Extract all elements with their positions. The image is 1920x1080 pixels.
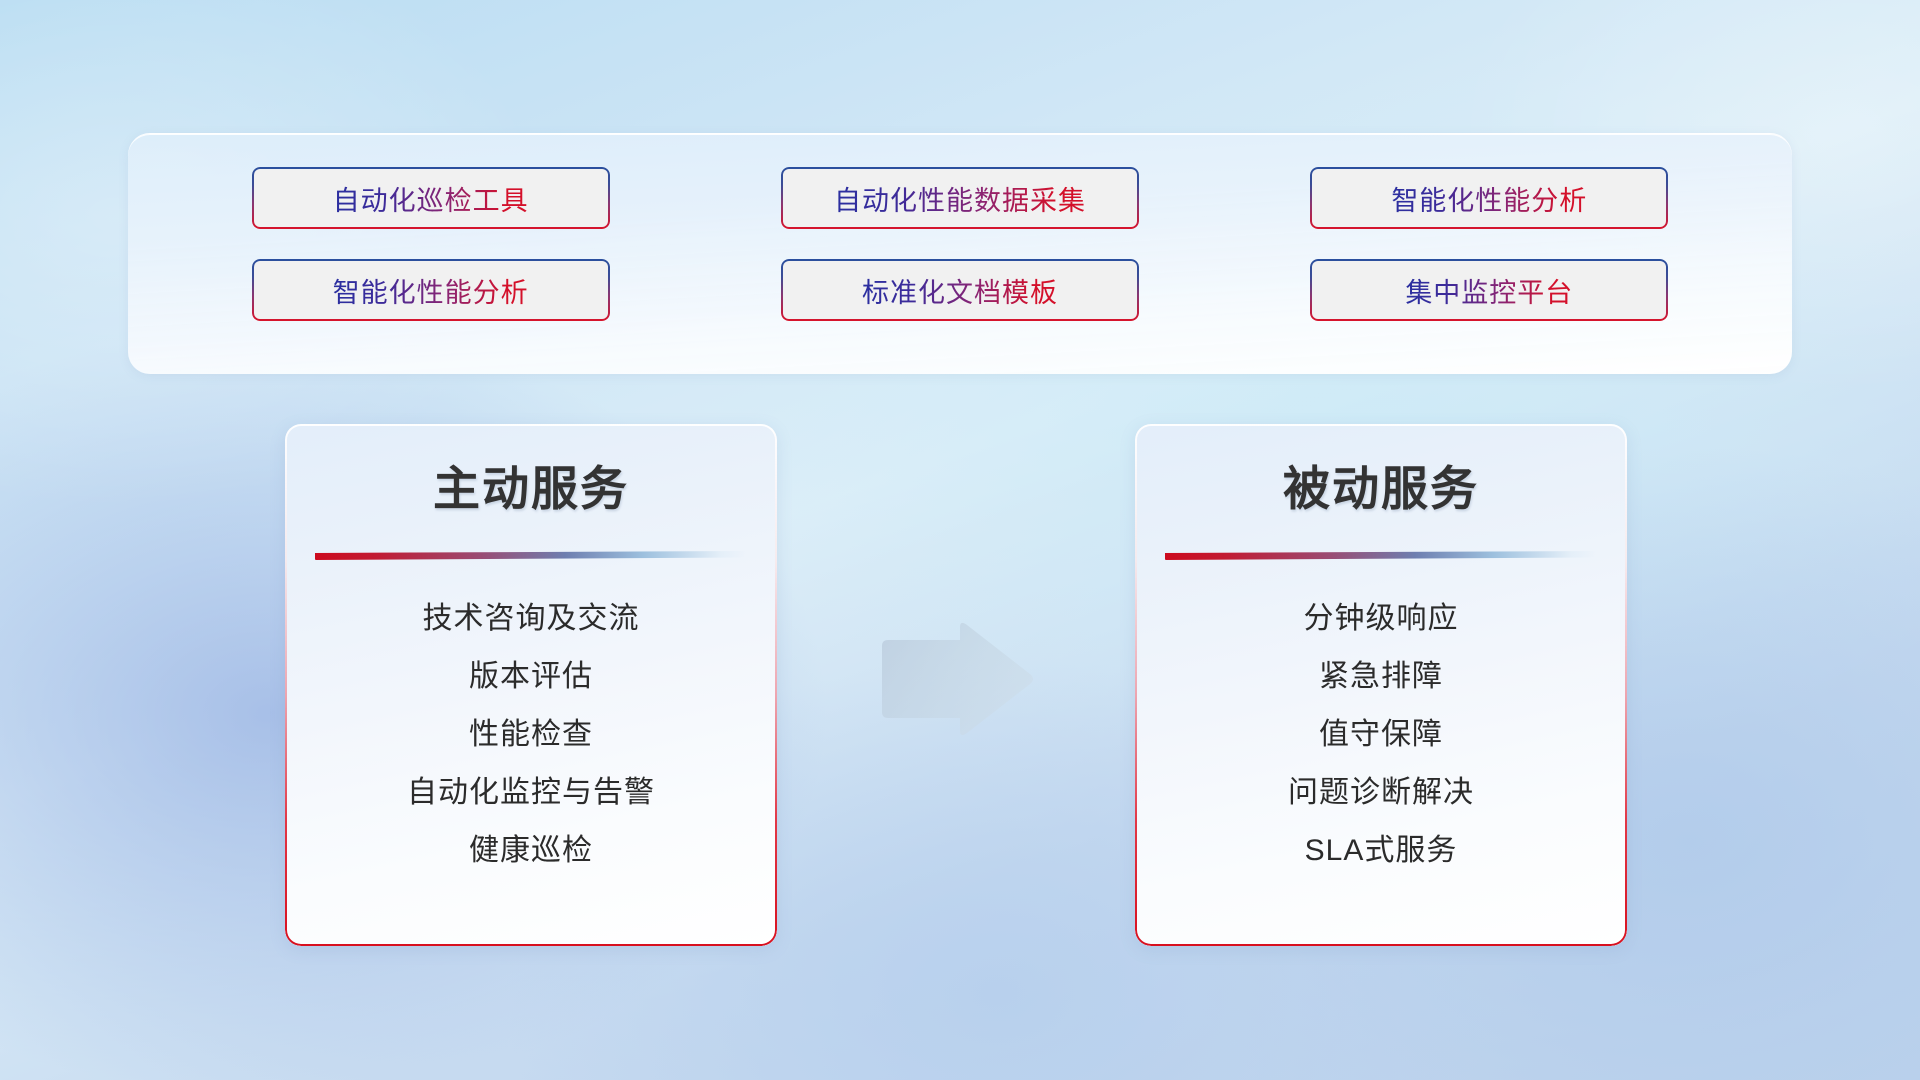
capability-tag-label: 自动化巡检工具	[333, 179, 529, 218]
capability-tag[interactable]: 自动化性能数据采集	[781, 167, 1139, 229]
capability-tag-grid: 自动化巡检工具 自动化性能数据采集 智能化性能分析 智能化性能分析 标准化文档模…	[128, 134, 1792, 374]
capability-tag-label: 智能化性能分析	[333, 271, 529, 310]
service-list-item: 自动化监控与告警	[285, 764, 777, 822]
service-item-list: 分钟级响应 紧急排障 值守保障 问题诊断解决 SLA式服务	[1135, 560, 1627, 880]
service-list-item: 技术咨询及交流	[285, 590, 777, 648]
service-list-item: 健康巡检	[285, 822, 777, 880]
capability-tag[interactable]: 标准化文档模板	[781, 259, 1139, 321]
service-list-item: 值守保障	[1135, 706, 1627, 764]
capability-tag-panel: 自动化巡检工具 自动化性能数据采集 智能化性能分析 智能化性能分析 标准化文档模…	[128, 133, 1792, 374]
card-title: 主动服务	[285, 424, 777, 519]
service-item-list: 技术咨询及交流 版本评估 性能检查 自动化监控与告警 健康巡检	[285, 560, 777, 880]
service-list-item: SLA式服务	[1135, 822, 1627, 880]
capability-tag-label: 自动化性能数据采集	[834, 179, 1086, 218]
service-card-passive: 被动服务 分钟级响应 紧急排障 值守保障 问题诊断解决 SLA式服务	[1135, 424, 1627, 946]
capability-tag[interactable]: 集中监控平台	[1310, 259, 1668, 321]
capability-tag[interactable]: 自动化巡检工具	[252, 167, 610, 229]
capability-tag-label: 集中监控平台	[1405, 271, 1573, 310]
service-list-item: 分钟级响应	[1135, 590, 1627, 648]
service-list-item: 版本评估	[285, 648, 777, 706]
service-card-active: 主动服务 技术咨询及交流 版本评估 性能检查 自动化监控与告警 健康巡检	[285, 424, 777, 946]
capability-tag-label: 智能化性能分析	[1391, 179, 1587, 218]
capability-tag[interactable]: 智能化性能分析	[252, 259, 610, 321]
arrow-right-icon	[874, 620, 1036, 740]
capability-tag[interactable]: 智能化性能分析	[1310, 167, 1668, 229]
card-title-underline	[315, 551, 747, 560]
capability-tag-label: 标准化文档模板	[862, 271, 1058, 310]
service-list-item: 性能检查	[285, 706, 777, 764]
service-list-item: 问题诊断解决	[1135, 764, 1627, 822]
service-list-item: 紧急排障	[1135, 648, 1627, 706]
card-title: 被动服务	[1135, 424, 1627, 519]
card-title-underline	[1165, 551, 1597, 560]
